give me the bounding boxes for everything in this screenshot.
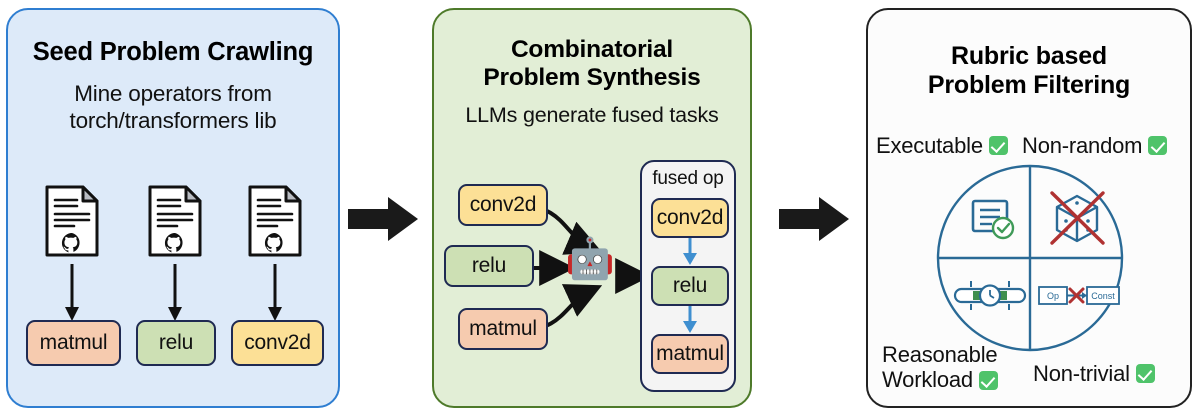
- github-doc-icon: [247, 184, 303, 258]
- fused-step-relu: relu: [651, 266, 729, 306]
- panel-seed-problem-crawling: Seed Problem Crawling Mine operators fro…: [6, 8, 340, 408]
- criterion-label-non-trivial: Non-trivial: [1033, 361, 1155, 386]
- input-chip-matmul: matmul: [458, 308, 548, 350]
- input-chip-relu: relu: [444, 245, 534, 287]
- fused-op-container: fused op conv2d relu matmul: [640, 160, 736, 392]
- check-icon: [1148, 136, 1167, 155]
- criterion-text-executable: Executable: [876, 133, 983, 158]
- const-box-label: Const: [1091, 291, 1115, 301]
- fused-flow-arrow: [680, 306, 700, 334]
- fused-flow-arrow: [680, 238, 700, 266]
- operator-chip-matmul: matmul: [26, 320, 121, 366]
- check-icon: [989, 136, 1008, 155]
- document-check-icon: [973, 201, 1013, 238]
- criterion-label-non-random: Non-random: [1022, 133, 1167, 158]
- op-box-label: Op: [1047, 291, 1059, 301]
- seed-subtitle-line-1: Mine operators from: [8, 80, 338, 107]
- criterion-text-non-random: Non-random: [1022, 133, 1142, 158]
- check-icon: [1136, 364, 1155, 383]
- seed-down-arrow: [166, 264, 184, 322]
- criterion-label-executable: Executable: [876, 133, 1008, 158]
- criterion-text-workload-line-2: Workload: [882, 367, 973, 392]
- filtering-title-line-2: Problem Filtering: [868, 71, 1190, 100]
- seed-subtitle-line-2: torch/transformers lib: [8, 107, 338, 134]
- op-const-crossed-icon: Op Const: [1039, 287, 1119, 304]
- seed-panel-subtitle: Mine operators from torch/transformers l…: [8, 80, 338, 134]
- criterion-text-workload-line-2-wrap: Workload: [882, 367, 998, 392]
- pipeline-diagram: Seed Problem Crawling Mine operators fro…: [0, 0, 1200, 415]
- operator-chip-conv2d: conv2d: [231, 320, 324, 366]
- fused-op-label: fused op: [642, 168, 734, 190]
- criterion-text-non-trivial: Non-trivial: [1033, 361, 1130, 386]
- seed-down-arrow: [266, 264, 284, 322]
- robot-icon: 🤖: [568, 237, 612, 281]
- seed-panel-title: Seed Problem Crawling: [8, 38, 338, 67]
- crossed-dice-icon: [1052, 193, 1103, 243]
- check-icon: [979, 371, 998, 390]
- synthesis-title-line-1: Combinatorial: [434, 36, 750, 64]
- rubric-quadrant-circle: Op Const: [935, 163, 1125, 353]
- synthesis-panel-title: Combinatorial Problem Synthesis: [434, 36, 750, 92]
- input-chip-conv2d: conv2d: [458, 184, 548, 226]
- fused-step-matmul: matmul: [651, 334, 729, 374]
- gauge-slider-icon: [955, 281, 1025, 310]
- seed-source-icon-row: [8, 182, 342, 264]
- synthesis-title-line-2: Problem Synthesis: [434, 64, 750, 92]
- stage-arrow-seed-to-synthesis: [348, 196, 420, 247]
- synthesis-panel-subtitle: LLMs generate fused tasks: [434, 103, 750, 129]
- fused-step-conv2d: conv2d: [651, 198, 729, 238]
- filtering-title-line-1: Rubric based: [868, 42, 1190, 71]
- filtering-panel-title: Rubric based Problem Filtering: [868, 42, 1190, 100]
- github-doc-icon: [44, 184, 100, 258]
- stage-arrow-synthesis-to-filtering: [779, 196, 851, 247]
- github-doc-icon: [147, 184, 203, 258]
- seed-operator-row: matmul relu conv2d: [8, 320, 342, 370]
- operator-chip-relu: relu: [136, 320, 216, 366]
- seed-down-arrow: [63, 264, 81, 322]
